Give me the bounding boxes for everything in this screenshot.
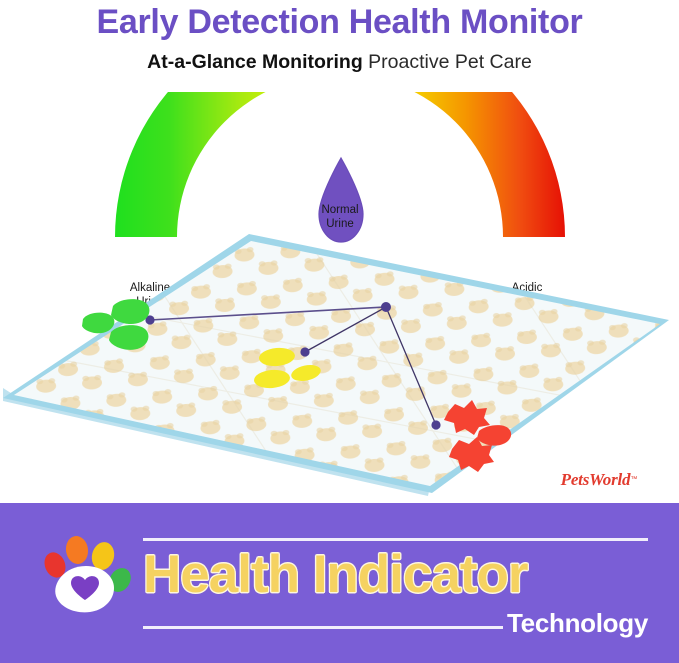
trademark-symbol: ™ (630, 476, 637, 483)
paw-logo (42, 528, 134, 620)
banner-subtitle: Technology (143, 608, 648, 638)
banner-text-block: Health Indicator Technology (143, 530, 648, 640)
banner-title: Health Indicator (143, 544, 648, 606)
banner-rule-top (143, 538, 648, 541)
subtitle: At-a-Glance Monitoring Proactive Pet Car… (0, 50, 679, 74)
header: Early Detection Health Monitor At-a-Glan… (0, 0, 679, 88)
pee-pad-illustration (0, 228, 679, 503)
petsworld-logo: PetsWorld™ (537, 466, 661, 492)
node-center[interactable] (381, 302, 391, 312)
page-title: Early Detection Health Monitor (0, 0, 679, 42)
node-acidic[interactable] (431, 420, 440, 429)
gauge-label-normal: Normal Urine (302, 204, 378, 231)
subtitle-light: Proactive Pet Care (363, 51, 532, 73)
paw-toe-orange (64, 535, 90, 566)
subtitle-strong: At-a-Glance Monitoring (147, 51, 363, 73)
petsworld-wordmark: PetsWorld (561, 471, 631, 488)
pee-pad-svg (0, 228, 679, 503)
node-normal[interactable] (300, 347, 309, 356)
